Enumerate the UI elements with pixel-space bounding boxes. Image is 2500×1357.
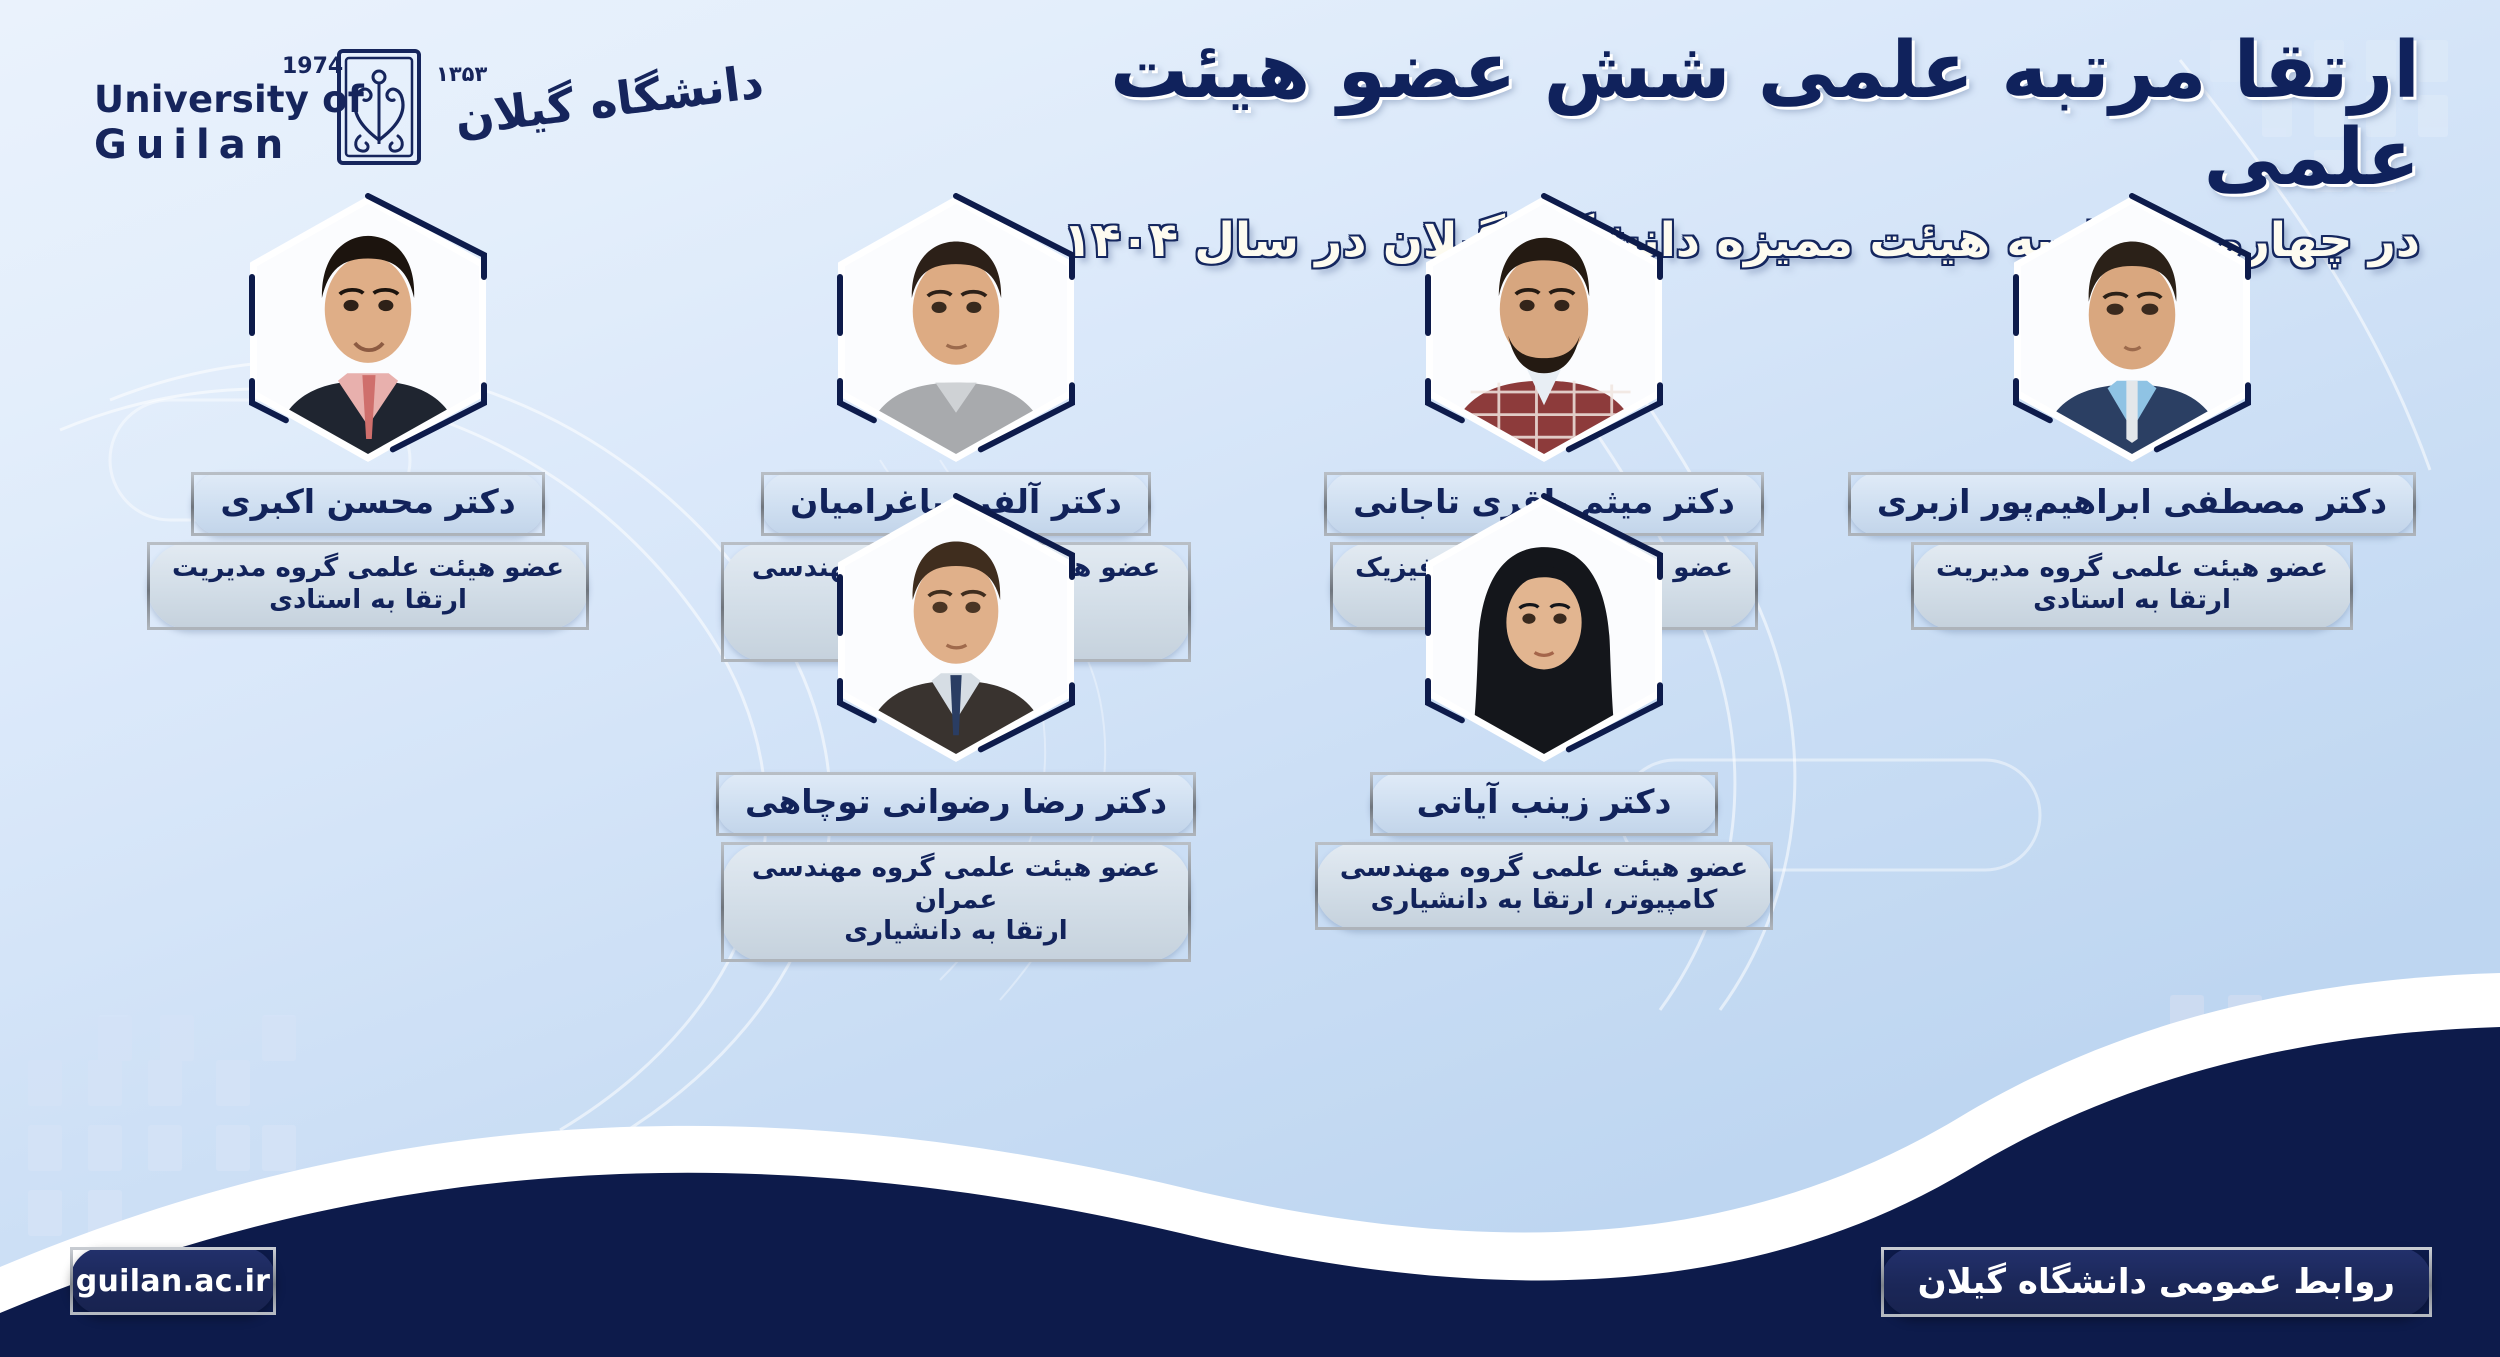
public-relations-badge[interactable]: روابط عمومی دانشگاه گیلان: [1881, 1247, 2432, 1317]
person-photo: [2014, 196, 2250, 462]
person-name: دکتر رضا رضوانی توچاهی: [716, 772, 1196, 836]
university-logo: University of Guilan 1974 ۱۳۵۳ دانشگاه گ…: [84, 26, 554, 176]
hex-accent-icon: [2011, 193, 2253, 465]
person-role-line1: عضو هیئت علمی گروه مهندسی: [1340, 853, 1748, 885]
hex-accent-icon: [835, 193, 1077, 465]
poster-canvas: University of Guilan 1974 ۱۳۵۳ دانشگاه گ…: [0, 0, 2500, 1357]
person-name: دکتر زینب آیاتی: [1370, 772, 1718, 836]
people-row-bottom: دکتر زینب آیاتی عضو هیئت علمی گروه مهندس…: [0, 496, 2500, 962]
hex-accent-icon: [1423, 493, 1665, 765]
person-role-line2: کامپیوتر، ارتقا به دانشیاری: [1340, 885, 1748, 917]
person-photo: [250, 196, 486, 462]
website-label: guilan.ac.ir: [76, 1264, 271, 1299]
guilan-crest-icon: [336, 48, 428, 166]
logo-fa-name: دانشگاه گیلان: [452, 54, 767, 145]
person-photo: [1426, 196, 1662, 462]
person-role: عضو هیئت علمی گروه مهندسی کامپیوتر، ارتق…: [1315, 842, 1773, 930]
hex-accent-icon: [835, 493, 1077, 765]
person-photo: [838, 196, 1074, 462]
hex-accent-icon: [247, 193, 489, 465]
logo-en-line1: University of: [94, 78, 364, 121]
public-relations-label: روابط عمومی دانشگاه گیلان: [1918, 1262, 2395, 1302]
person-role-line1: عضو هیئت علمی گروه مهندسی عمران: [746, 853, 1166, 916]
person-card[interactable]: دکتر رضا رضوانی توچاهی عضو هیئت علمی گرو…: [706, 496, 1206, 962]
hex-accent-icon: [1423, 193, 1665, 465]
person-photo: [1426, 496, 1662, 762]
logo-year-en: 1974: [282, 54, 343, 79]
logo-en-line2: Guilan: [94, 122, 292, 168]
person-photo: [838, 496, 1074, 762]
website-button[interactable]: guilan.ac.ir: [70, 1247, 276, 1315]
person-card[interactable]: دکتر زینب آیاتی عضو هیئت علمی گروه مهندس…: [1294, 496, 1794, 962]
logo-year-fa: ۱۳۵۳: [436, 62, 487, 86]
page-title: ارتقا مرتبه علمی شش عضو هیئت علمی: [1020, 28, 2420, 203]
